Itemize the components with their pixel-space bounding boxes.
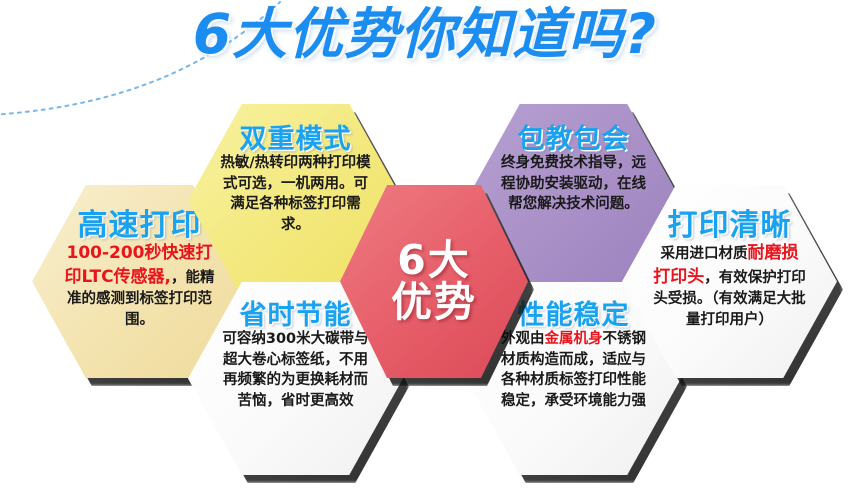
- infographic-stage: 6大优势你知道吗? 高速打印 100-200秒快速打印LTC传感器,，能精准的感…: [0, 0, 850, 497]
- hexagon-title-teach: 包教包会: [518, 126, 630, 153]
- hexagon-body-save: 可容纳300米大碳带与超大卷心标签纸，不用再频繁的为更换耗材而苦恼，省时更高效: [218, 329, 373, 411]
- hexagon-title-stable: 性能稳定: [518, 302, 630, 329]
- page-title: 6大优势你知道吗?: [0, 6, 850, 64]
- hexagon-body-speed: 100-200秒快速打印LTC传感器,，能精准的感测到标签打印范围。: [62, 241, 217, 330]
- hexagon-body-stable: 外观由金属机身不锈钢材质构造而成，适应与各种材质标签打印性能稳定，承受环境能力强: [496, 329, 651, 411]
- text-segment: 可容纳300米大碳带与超大卷心标签纸，不用再频繁的为更换耗材而苦恼，省时更高效: [222, 331, 368, 409]
- hexagon-body-teach: 终身免费技术指导，远程协助安装驱动，在线帮您解决技术问题。: [496, 153, 651, 215]
- hexagon-body-dual: 热敏/热转印两种打印模式可选，一机两用。可满足各种标签打印需求。: [218, 153, 373, 235]
- text-segment: 热敏/热转印两种打印模式可选，一机两用。可满足各种标签打印需求。: [220, 155, 370, 233]
- hexagon-title-save: 省时节能: [240, 302, 352, 329]
- hexagon-body-clear: 采用进口材质耐磨损打印头，有效保护打印头受损。（有效满足大批量打印用户）: [652, 241, 807, 330]
- hexagon-title-dual: 双重模式: [240, 126, 352, 153]
- text-segment: 采用进口材质: [661, 246, 748, 262]
- text-segment: 终身免费技术指导，远程协助安装驱动，在线帮您解决技术问题。: [501, 155, 646, 212]
- hexagon-title-speed: 高速打印: [78, 211, 202, 241]
- core-line-2: 优势: [391, 282, 477, 324]
- core-line-1: 6大: [397, 240, 471, 282]
- hexagon-title-clear: 打印清晰: [668, 211, 792, 241]
- text-segment: 金属机身: [545, 331, 603, 347]
